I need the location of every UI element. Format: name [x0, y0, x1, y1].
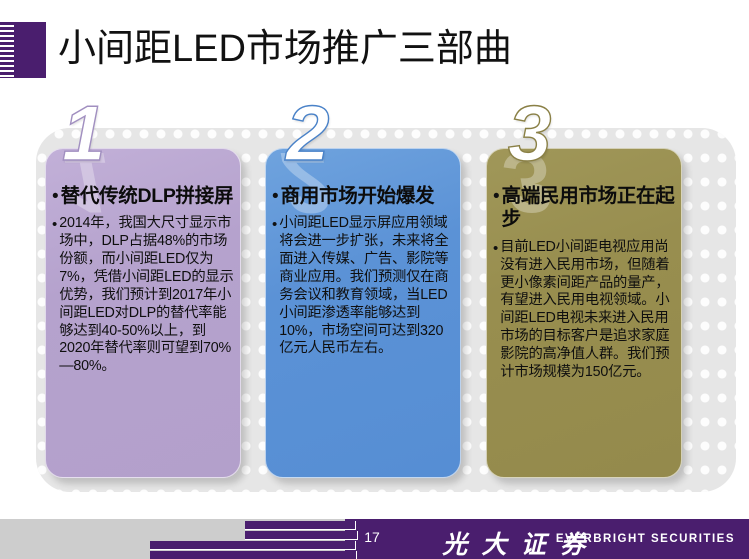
- bullet-icon: •: [272, 215, 277, 234]
- step-numeral-2: 2: [286, 94, 329, 172]
- page-title: 小间距LED市场推广三部曲: [58, 18, 512, 80]
- bullet-icon: •: [272, 185, 279, 208]
- step-card-3-body: • 高端民用市场正在起步 • 目前LED小间距电视应用尚没有进入民用市场，但随着…: [487, 185, 682, 382]
- step-card-2-text: 小间距LED显示屏应用领域将会进一步扩张，未来将全面进入传媒、广告、影院等商业应…: [279, 215, 454, 358]
- step-card-1-body: • 替代传统DLP拼接屏 • 2014年，我国大尺寸显示市场中，DLP占据48%…: [46, 185, 241, 376]
- step-card-1-heading-row: • 替代传统DLP拼接屏: [52, 185, 234, 208]
- step-numeral-1: 1: [62, 94, 105, 172]
- step-card-3-heading-row: • 高端民用市场正在起步: [493, 185, 675, 232]
- footer-step-bar-1: [245, 521, 356, 530]
- step-card-2-heading: 商用市场开始爆发: [281, 185, 435, 208]
- bullet-icon: •: [52, 185, 59, 208]
- step-card-1-heading: 替代传统DLP拼接屏: [61, 185, 234, 208]
- slide-footer: 17 光 大 证 券 EVERBRIGHT SECURITIES: [0, 519, 749, 559]
- step-card-2-body-row: • 小间距LED显示屏应用领域将会进一步扩张，未来将全面进入传媒、广告、影院等商…: [272, 215, 454, 358]
- step-card-3-body-row: • 目前LED小间距电视应用尚没有进入民用市场，但随着更小像素间距产品的量产，有…: [493, 239, 675, 382]
- slide-canvas: 小间距LED市场推广三部曲 1 • 替代传统DLP拼接屏 • 2014年，我国大…: [0, 0, 749, 559]
- footer-step-bar-3: [150, 541, 356, 550]
- step-card-1-text: 2014年，我国大尺寸显示市场中，DLP占据48%的市场份额，而小间距LED仅为…: [59, 215, 234, 376]
- step-card-3[interactable]: 3 • 高端民用市场正在起步 • 目前LED小间距电视应用尚没有进入民用市场，但…: [486, 148, 682, 478]
- brand-logo-english: EVERBRIGHT SECURITIES: [556, 533, 735, 545]
- footer-step-bar-2: [245, 531, 358, 540]
- step-card-3-text: 目前LED小间距电视应用尚没有进入民用市场，但随着更小像素间距产品的量产，有望进…: [500, 239, 675, 382]
- step-card-1-body-row: • 2014年，我国大尺寸显示市场中，DLP占据48%的市场份额，而小间距LED…: [52, 215, 234, 376]
- step-card-1[interactable]: 1 • 替代传统DLP拼接屏 • 2014年，我国大尺寸显示市场中，DLP占据4…: [45, 148, 241, 478]
- title-stripe-decoration: [0, 22, 14, 78]
- page-number: 17: [352, 529, 392, 545]
- footer-step-bar-4: [150, 551, 357, 559]
- bullet-icon: •: [493, 239, 498, 258]
- step-card-2[interactable]: 2 • 商用市场开始爆发 • 小间距LED显示屏应用领域将会进一步扩张，未来将全…: [265, 148, 461, 478]
- step-card-2-heading-row: • 商用市场开始爆发: [272, 185, 454, 208]
- bullet-icon: •: [493, 185, 500, 208]
- bullet-icon: •: [52, 215, 57, 234]
- slide-title-bar: 小间距LED市场推广三部曲: [0, 18, 749, 82]
- step-card-3-heading: 高端民用市场正在起步: [502, 185, 675, 232]
- step-card-2-body: • 商用市场开始爆发 • 小间距LED显示屏应用领域将会进一步扩张，未来将全面进…: [266, 185, 461, 358]
- step-numeral-3: 3: [508, 94, 551, 172]
